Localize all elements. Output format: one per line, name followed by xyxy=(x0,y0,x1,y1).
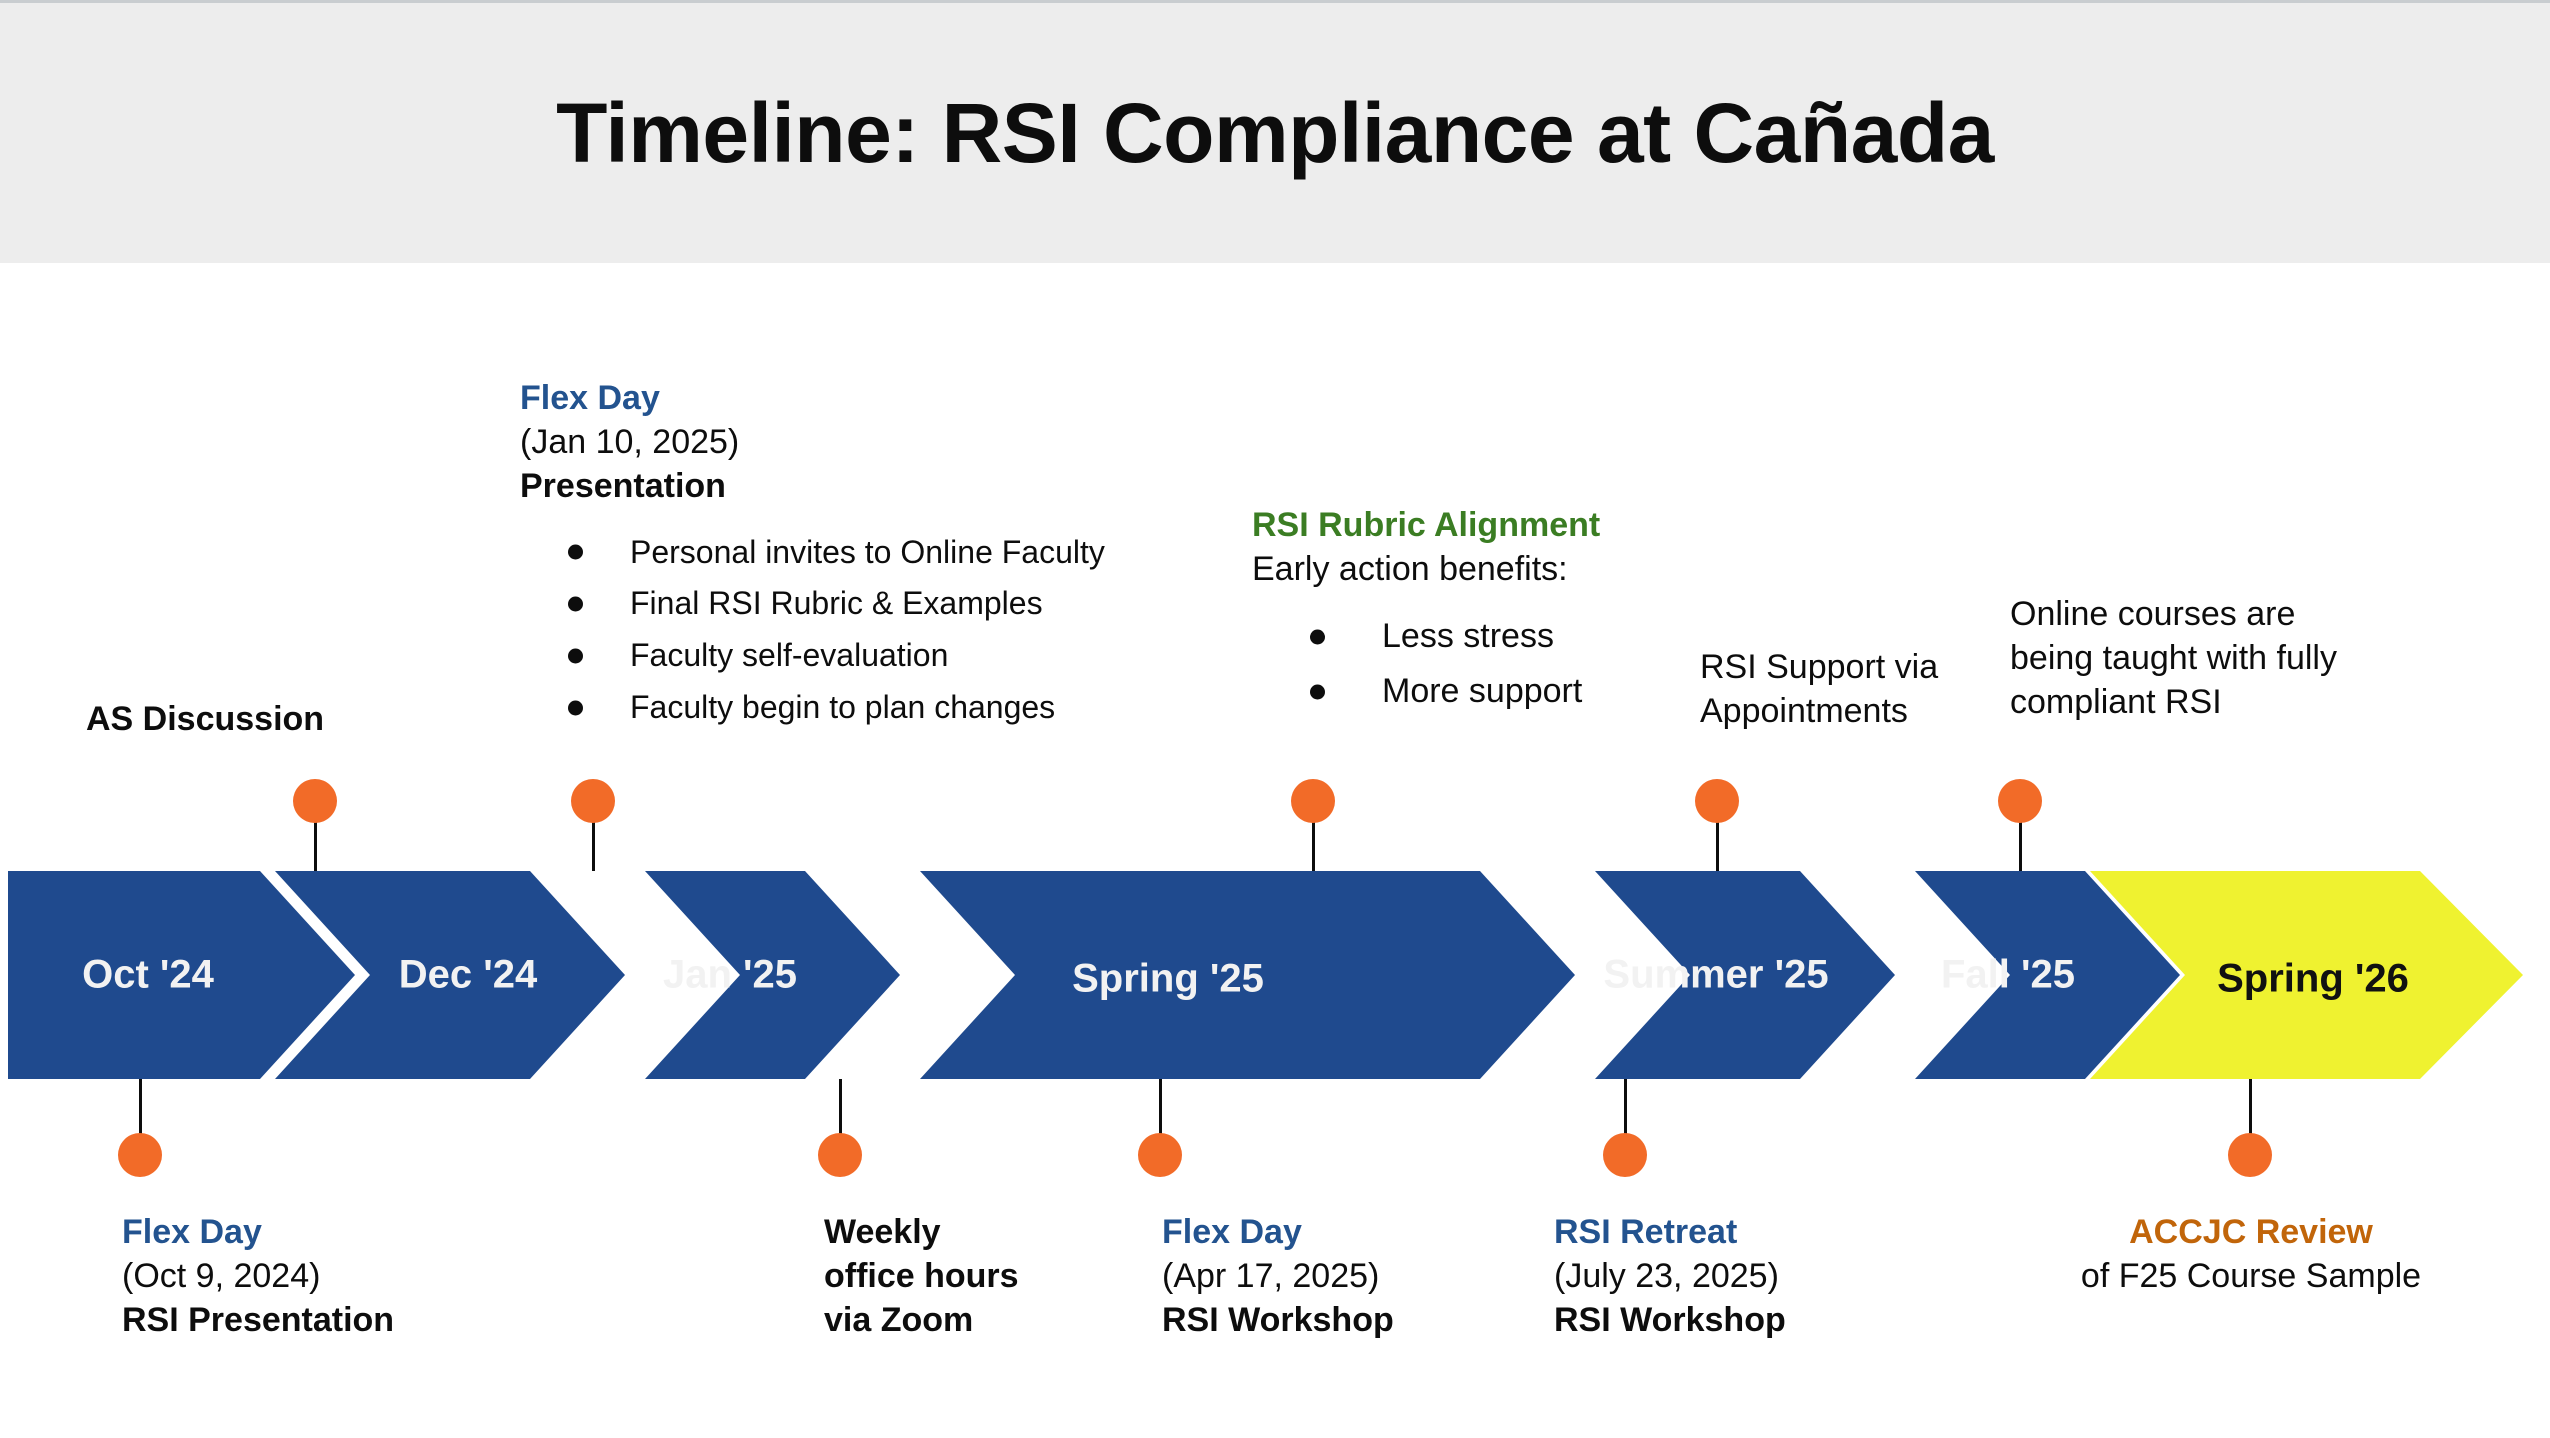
list-item: Faculty self-evaluation xyxy=(520,630,1105,682)
annotation-rsi-retreat: RSI Retreat (July 23, 2025) RSI Workshop xyxy=(1554,1210,1786,1343)
list-item: Final RSI Rubric & Examples xyxy=(520,578,1105,630)
annotation-flex-day-oct: Flex Day (Oct 9, 2024) RSI Presentation xyxy=(122,1210,394,1343)
marker-dot xyxy=(2228,1133,2272,1177)
rsi-rubric-bullet-list: Less stress More support xyxy=(1252,609,1600,719)
rsi-support-line-2: Appointments xyxy=(1700,689,1938,733)
flex-day-oct-subtitle: RSI Presentation xyxy=(122,1298,394,1342)
list-item: Faculty begin to plan changes xyxy=(520,682,1105,734)
timeline-segment-summer-25[interactable] xyxy=(1595,871,1895,1079)
accjc-review-heading: ACCJC Review xyxy=(2001,1210,2501,1254)
annotation-rsi-support: RSI Support via Appointments xyxy=(1700,645,1938,733)
marker-dot xyxy=(118,1133,162,1177)
rsi-support-line-1: RSI Support via xyxy=(1700,645,1938,689)
annotation-as-discussion: AS Discussion xyxy=(86,697,324,741)
timeline-segment-jan-25[interactable] xyxy=(645,871,900,1079)
online-courses-line-2: being taught with fully xyxy=(2010,636,2337,680)
marker-dot xyxy=(1695,779,1739,823)
weekly-office-hours-line-2: office hours xyxy=(824,1254,1019,1298)
weekly-office-hours-line-3: via Zoom xyxy=(824,1298,1019,1342)
timeline-segment-spring-25[interactable] xyxy=(920,871,1575,1079)
list-item: Personal invites to Online Faculty xyxy=(520,527,1105,579)
annotation-flex-day-apr: Flex Day (Apr 17, 2025) RSI Workshop xyxy=(1162,1210,1394,1343)
rsi-retreat-date: (July 23, 2025) xyxy=(1554,1254,1786,1298)
online-courses-line-3: compliant RSI xyxy=(2010,680,2337,724)
marker-dot xyxy=(1603,1133,1647,1177)
flex-day-oct-heading: Flex Day xyxy=(122,1210,394,1254)
flex-day-jan-bullet-list: Personal invites to Online Faculty Final… xyxy=(520,527,1105,734)
annotation-accjc-review: ACCJC Review of F25 Course Sample xyxy=(2001,1210,2501,1298)
accjc-review-subtitle: of F25 Course Sample xyxy=(2001,1254,2501,1298)
rsi-rubric-subtitle: Early action benefits: xyxy=(1252,547,1600,591)
rsi-retreat-subtitle: RSI Workshop xyxy=(1554,1298,1786,1342)
rsi-retreat-heading: RSI Retreat xyxy=(1554,1210,1786,1254)
flex-day-oct-date: (Oct 9, 2024) xyxy=(122,1254,394,1298)
slide-canvas: Timeline: RSI Compliance at Cañada Oct '… xyxy=(0,0,2550,1438)
page-title: Timeline: RSI Compliance at Cañada xyxy=(556,85,1994,182)
marker-dot xyxy=(818,1133,862,1177)
annotation-weekly-office-hours: Weekly office hours via Zoom xyxy=(824,1210,1019,1343)
marker-dot xyxy=(1291,779,1335,823)
marker-dot xyxy=(293,779,337,823)
flex-day-jan-heading: Flex Day xyxy=(520,376,1105,420)
marker-dot xyxy=(571,779,615,823)
weekly-office-hours-line-1: Weekly xyxy=(824,1210,1019,1254)
flex-day-apr-subtitle: RSI Workshop xyxy=(1162,1298,1394,1342)
annotation-rsi-rubric-alignment: RSI Rubric Alignment Early action benefi… xyxy=(1252,503,1600,720)
marker-dot xyxy=(1998,779,2042,823)
list-item: Less stress xyxy=(1252,609,1600,664)
marker-dot xyxy=(1138,1133,1182,1177)
flex-day-jan-subtitle: Presentation xyxy=(520,464,1105,508)
timeline-segment-oct-24[interactable] xyxy=(8,871,355,1079)
annotation-online-courses: Online courses are being taught with ful… xyxy=(2010,592,2337,725)
as-discussion-heading: AS Discussion xyxy=(86,697,324,741)
online-courses-line-1: Online courses are xyxy=(2010,592,2337,636)
annotation-flex-day-jan: Flex Day (Jan 10, 2025) Presentation Per… xyxy=(520,376,1105,734)
list-item: More support xyxy=(1252,664,1600,719)
timeline-chevron-band: Oct '24 Dec '24 Jan '25 Spring '25 Summe… xyxy=(0,871,2550,1079)
flex-day-apr-heading: Flex Day xyxy=(1162,1210,1394,1254)
rsi-rubric-heading: RSI Rubric Alignment xyxy=(1252,503,1600,547)
flex-day-apr-date: (Apr 17, 2025) xyxy=(1162,1254,1394,1298)
title-band: Timeline: RSI Compliance at Cañada xyxy=(0,0,2550,263)
flex-day-jan-date: (Jan 10, 2025) xyxy=(520,420,1105,464)
